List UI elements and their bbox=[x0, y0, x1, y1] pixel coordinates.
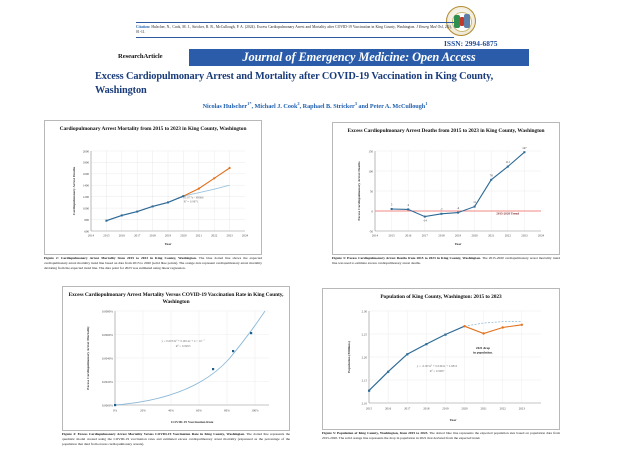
figure-3-point-label: 78 bbox=[490, 173, 493, 177]
figure-5-r2: R² = 0.9987 bbox=[430, 369, 445, 373]
svg-text:2.25: 2.25 bbox=[362, 332, 368, 336]
svg-text:2015: 2015 bbox=[103, 234, 110, 238]
svg-text:2023: 2023 bbox=[521, 234, 528, 238]
svg-text:20%: 20% bbox=[140, 409, 146, 413]
figure-5-caption: Figure 5: Population of King County, Was… bbox=[322, 431, 560, 453]
figure-5-caption-bold: Figure 5: Population of King County, Was… bbox=[322, 431, 428, 435]
svg-text:2014: 2014 bbox=[88, 234, 95, 238]
figure-5-equation: y = -0.003x² + 0.0492x + 2.0816 bbox=[417, 364, 458, 368]
svg-text:2016: 2016 bbox=[405, 234, 412, 238]
figure-3-frame: Excess Cardiopulmonary Arrest Deaths fro… bbox=[332, 122, 560, 255]
figure-2-plot: 600 800 1000 1200 1400 1600 1800 2000 20… bbox=[45, 121, 263, 256]
svg-text:1800: 1800 bbox=[83, 161, 90, 165]
svg-text:2.30: 2.30 bbox=[362, 309, 368, 313]
figure-4-frame: Excess Cardiopulmonary Arrest Mortality … bbox=[62, 286, 290, 431]
svg-text:100: 100 bbox=[368, 169, 373, 173]
svg-text:2024: 2024 bbox=[538, 234, 545, 238]
svg-text:0: 0 bbox=[371, 209, 373, 213]
citation-journal: J Emerg Med Osl bbox=[416, 25, 442, 29]
svg-text:50: 50 bbox=[370, 189, 374, 193]
figure-2-xlabel: Year bbox=[165, 242, 172, 246]
figure-2-r2: R² = 0.9871 bbox=[184, 200, 199, 204]
citation-body: Hulscher, N., Cook, M. J., Stricker, R. … bbox=[150, 25, 416, 29]
figure-3-caption: Figure 3: Excess Cardiopulmonary Arrest … bbox=[332, 256, 560, 276]
svg-text:2019: 2019 bbox=[455, 234, 462, 238]
svg-text:2020: 2020 bbox=[180, 234, 187, 238]
svg-text:2019: 2019 bbox=[442, 407, 449, 411]
document-header: Citation: Hulscher, N., Cook, M. J., Str… bbox=[0, 0, 620, 118]
svg-text:2000: 2000 bbox=[83, 149, 90, 153]
svg-text:2022: 2022 bbox=[211, 234, 218, 238]
svg-text:2022: 2022 bbox=[500, 407, 507, 411]
svg-text:2.10: 2.10 bbox=[362, 401, 368, 405]
figure-4-caption: Figure 4: Excess Cardiopulmonary Arrest … bbox=[62, 432, 290, 456]
svg-text:2017: 2017 bbox=[404, 407, 411, 411]
figure-4-equation: y = 0.0053x² + 0.0014x + 4 × 10⁻⁷ bbox=[161, 339, 204, 343]
journal-title: Journal of Emergency Medicine: Open Acce… bbox=[242, 50, 475, 65]
figure-5-xlabel: Year bbox=[450, 418, 457, 422]
svg-text:2023: 2023 bbox=[227, 234, 234, 238]
svg-text:2022: 2022 bbox=[505, 234, 512, 238]
figure-5-plot: 2.30 2.25 2.20 2.15 2.10 2015 2016 2017 … bbox=[323, 289, 561, 431]
figure-3-ylabel: Excess Cardiopulmonary Arrest Deaths bbox=[357, 161, 361, 221]
figure-2-caption: Figure 2: Cardiopulmonary Arrest Mortali… bbox=[44, 256, 262, 282]
figure-4-r2: R² = 0.9993 bbox=[176, 344, 191, 348]
page-title: Excess Cardiopulmonary Arrest and Mortal… bbox=[95, 70, 535, 97]
figure-2-caption-bold: Figure 2: Cardiopulmonary Arrest Mortali… bbox=[44, 256, 197, 260]
figure-3-point-label: 111 bbox=[506, 160, 511, 164]
figure-3-caption-bold: Figure 3: Excess Cardiopulmonary Arrest … bbox=[332, 256, 481, 260]
figure-5-annotation-line1: 2021 drop bbox=[476, 346, 490, 350]
figure-2-ylabel: Cardiopulmonary Arrest Deaths bbox=[72, 166, 76, 215]
figure-5-frame: Population of King County, Washington: 2… bbox=[322, 288, 560, 430]
authors-list: Nicolas Hulscher1*, Michael J. Cook2, Ra… bbox=[100, 101, 530, 110]
issn-text: ISSN: 2994-6875 bbox=[444, 39, 498, 48]
journal-title-bar: Journal of Emergency Medicine: Open Acce… bbox=[189, 49, 529, 66]
svg-text:0.0060%: 0.0060% bbox=[102, 333, 114, 337]
svg-text:2017: 2017 bbox=[134, 234, 141, 238]
citation-text: Citation: Hulscher, N., Cook, M. J., Str… bbox=[136, 25, 452, 35]
svg-text:2024: 2024 bbox=[242, 234, 249, 238]
svg-text:2019: 2019 bbox=[165, 234, 172, 238]
svg-text:1400: 1400 bbox=[83, 184, 90, 188]
figure-3-trend-label: 2015-2020 Trend bbox=[496, 212, 519, 216]
citation-box: Citation: Hulscher, N., Cook, M. J., Str… bbox=[136, 22, 454, 38]
figure-4-caption-bold: Figure 4: Excess Cardiopulmonary Arrest … bbox=[62, 432, 245, 436]
svg-text:0.0080%: 0.0080% bbox=[102, 309, 114, 313]
svg-text:2021: 2021 bbox=[488, 234, 495, 238]
figure-3-plot: 150 100 50 0 -50 2014 2015 2016 2017 201… bbox=[333, 123, 561, 256]
svg-text:100%: 100% bbox=[251, 409, 259, 413]
svg-text:0.0000%: 0.0000% bbox=[102, 403, 114, 407]
figure-3-point-label: 4 bbox=[407, 203, 409, 207]
svg-text:2016: 2016 bbox=[385, 407, 392, 411]
svg-text:1600: 1600 bbox=[83, 172, 90, 176]
figure-3-point-label: -4 bbox=[457, 206, 460, 210]
svg-text:1000: 1000 bbox=[83, 206, 90, 210]
svg-text:0%: 0% bbox=[113, 409, 118, 413]
svg-text:0.0020%: 0.0020% bbox=[102, 380, 114, 384]
figure-5-annotation-line2: in population. bbox=[473, 351, 493, 355]
svg-text:80%: 80% bbox=[224, 409, 230, 413]
svg-text:2018: 2018 bbox=[150, 234, 157, 238]
document-page: Citation: Hulscher, N., Cook, M. J., Str… bbox=[0, 0, 620, 460]
figure-4-plot: 0.0080% 0.0060% 0.0040% 0.0020% 0.0000% … bbox=[63, 287, 291, 432]
figure-5-ylabel: Population (Millions) bbox=[347, 340, 351, 373]
svg-text:2020: 2020 bbox=[461, 407, 468, 411]
figure-3-point-label: 5 bbox=[391, 203, 393, 207]
figure-3-point-label: -14 bbox=[423, 219, 427, 223]
svg-text:800: 800 bbox=[84, 218, 89, 222]
citation-label: Citation: bbox=[136, 25, 150, 29]
figure-4-xlabel: COVID-19 Vaccination Rate bbox=[171, 420, 214, 424]
svg-text:2020: 2020 bbox=[472, 234, 479, 238]
svg-text:2018: 2018 bbox=[423, 407, 430, 411]
svg-text:1200: 1200 bbox=[83, 195, 90, 199]
svg-text:2.15: 2.15 bbox=[362, 378, 368, 382]
svg-text:2017: 2017 bbox=[422, 234, 429, 238]
svg-text:2021: 2021 bbox=[196, 234, 203, 238]
svg-text:2023: 2023 bbox=[519, 407, 526, 411]
svg-text:2015: 2015 bbox=[366, 407, 373, 411]
svg-text:2014: 2014 bbox=[372, 234, 379, 238]
svg-text:2.20: 2.20 bbox=[362, 355, 368, 359]
figure-3-point-label: 147 bbox=[522, 146, 527, 150]
svg-text:0.0040%: 0.0040% bbox=[102, 356, 114, 360]
svg-text:2018: 2018 bbox=[438, 234, 445, 238]
figure-4-ylabel: Excess Cardiopulmonary Arrest Mortality bbox=[86, 326, 90, 390]
svg-text:2015: 2015 bbox=[389, 234, 396, 238]
svg-text:150: 150 bbox=[368, 149, 373, 153]
figure-3-xlabel: Year bbox=[455, 242, 462, 246]
svg-text:2016: 2016 bbox=[119, 234, 126, 238]
figure-2-frame: Cardiopulmonary Arrest Mortality from 20… bbox=[44, 120, 262, 255]
svg-text:2021: 2021 bbox=[481, 407, 488, 411]
article-type-label: ResearchArticle bbox=[118, 53, 163, 60]
svg-text:40%: 40% bbox=[168, 409, 174, 413]
svg-text:60%: 60% bbox=[196, 409, 202, 413]
